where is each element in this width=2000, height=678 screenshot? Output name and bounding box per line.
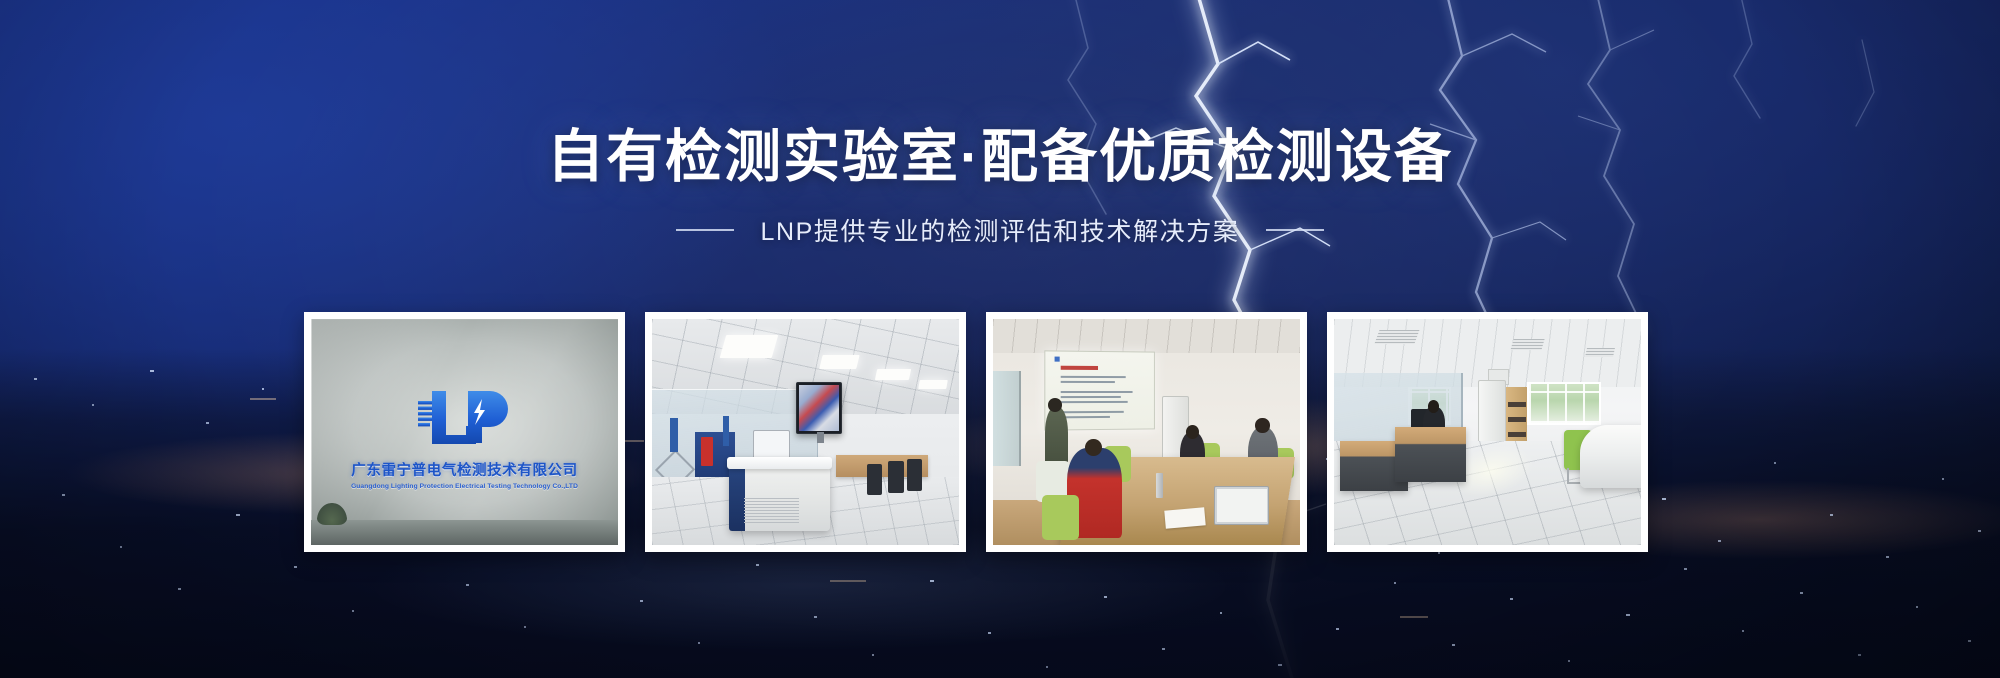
company-signage-photo: 广东雷宁普电气检测技术有限公司 Guangdong Lighting Prote… [311,319,618,545]
training-meeting-room-photo [993,319,1300,545]
ceiling-vent [1510,339,1544,350]
subtitle-row: LNP提供专业的检测评估和技术解决方案 [0,212,2000,248]
rule-right-icon [1266,229,1324,231]
test-equipment [723,416,730,445]
window [1527,382,1601,425]
worker-head [1428,400,1439,412]
hero-banner: 自有检测实验室·配备优质检测设备 LNP提供专业的检测评估和技术解决方案 [0,0,2000,678]
ceiling-light [875,369,911,380]
attendee-head [1186,425,1199,439]
display-mount [817,432,825,443]
test-equipment [701,437,713,466]
laptop [1214,486,1269,524]
page-title: 自有检测实验室·配备优质检测设备 [0,126,2000,190]
gallery-card-office-area[interactable] [1327,312,1648,552]
ceiling-light [819,355,859,369]
ceiling-light [719,335,778,358]
attendee-head [1255,418,1269,433]
glass-door [993,371,1021,466]
gallery-card-training-meeting[interactable] [986,312,1307,552]
documents [1164,507,1205,528]
plant-decoration [317,503,347,525]
console-vents [744,498,799,525]
headline-block: 自有检测实验室·配备优质检测设备 LNP提供专业的检测评估和技术解决方案 [0,0,2000,248]
ceiling-vent [1375,330,1420,344]
attendee-head [1085,439,1102,456]
office-area-photo [1334,319,1641,545]
office-chair [888,461,903,493]
test-equipment [670,418,678,452]
wall-display [796,382,842,434]
company-name-en: Guangdong Lighting Protection Electrical… [351,483,578,490]
ceiling-light [918,380,947,389]
floor [311,520,618,545]
ceiling-grid [993,319,1300,353]
ceiling-vent [1585,348,1615,357]
page-subtitle: LNP提供专业的检测评估和技术解决方案 [760,212,1239,248]
lnp-logo-icon [406,385,524,449]
presenter-head [1048,398,1062,412]
gallery-card-testing-laboratory[interactable] [645,312,966,552]
company-name-cn: 广东雷宁普电气检测技术有限公司 [351,459,578,480]
green-chair [1042,495,1079,540]
water-bottle [1156,473,1163,498]
gallery-card-company-signage[interactable]: 广东雷宁普电气检测技术有限公司 Guangdong Lighting Prote… [304,312,625,552]
presenter [1045,407,1068,468]
rule-left-icon [676,229,734,231]
office-chair [867,464,882,496]
reception-counter [1580,425,1641,488]
photo-gallery: 广东雷宁普电气检测技术有限公司 Guangdong Lighting Prote… [304,312,1648,552]
office-chair [907,459,922,491]
testing-laboratory-photo [652,319,959,545]
office-desk [1395,427,1466,481]
